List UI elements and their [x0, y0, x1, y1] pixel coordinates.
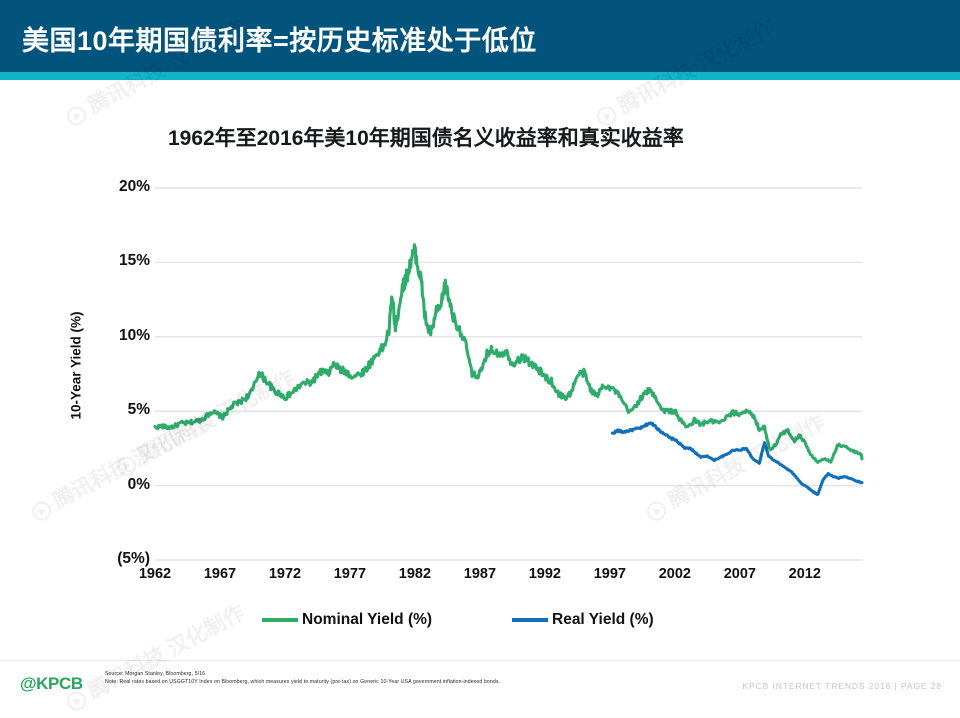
x-tick-label: 2002: [640, 566, 710, 582]
x-tick-label: 1982: [380, 566, 450, 582]
x-tick-label: 1997: [575, 566, 645, 582]
chart-area: [0, 0, 960, 713]
legend-swatch: [262, 618, 298, 622]
legend-label: Nominal Yield (%): [302, 611, 432, 629]
x-tick-label: 1987: [445, 566, 515, 582]
chart-title: 1962年至2016年美10年期国债名义收益率和真实收益率: [168, 122, 684, 152]
legend-label: Real Yield (%): [552, 611, 654, 629]
y-tick-label: 10%: [88, 327, 150, 345]
series-line-nominal-yield: [155, 245, 862, 463]
y-tick-label: 5%: [88, 401, 150, 419]
x-tick-label: 1992: [510, 566, 580, 582]
yield-line-chart: [0, 0, 960, 713]
x-tick-label: 2012: [770, 566, 840, 582]
y-tick-label: 20%: [88, 178, 150, 196]
x-tick-label: 1972: [250, 566, 320, 582]
x-tick-label: 2007: [705, 566, 775, 582]
legend-item-nominal-yield: Nominal Yield (%): [262, 611, 432, 629]
x-tick-label: 1977: [315, 566, 385, 582]
legend-item-real-yield: Real Yield (%): [512, 611, 654, 629]
legend-swatch: [512, 618, 548, 622]
y-tick-label: 15%: [88, 252, 150, 270]
x-tick-label: 1962: [120, 566, 190, 582]
x-tick-label: 1967: [185, 566, 255, 582]
y-tick-label: 0%: [88, 476, 150, 494]
chart-legend: Nominal Yield (%)Real Yield (%): [0, 611, 960, 635]
y-axis-title: 10-Year Yield (%): [69, 276, 84, 456]
